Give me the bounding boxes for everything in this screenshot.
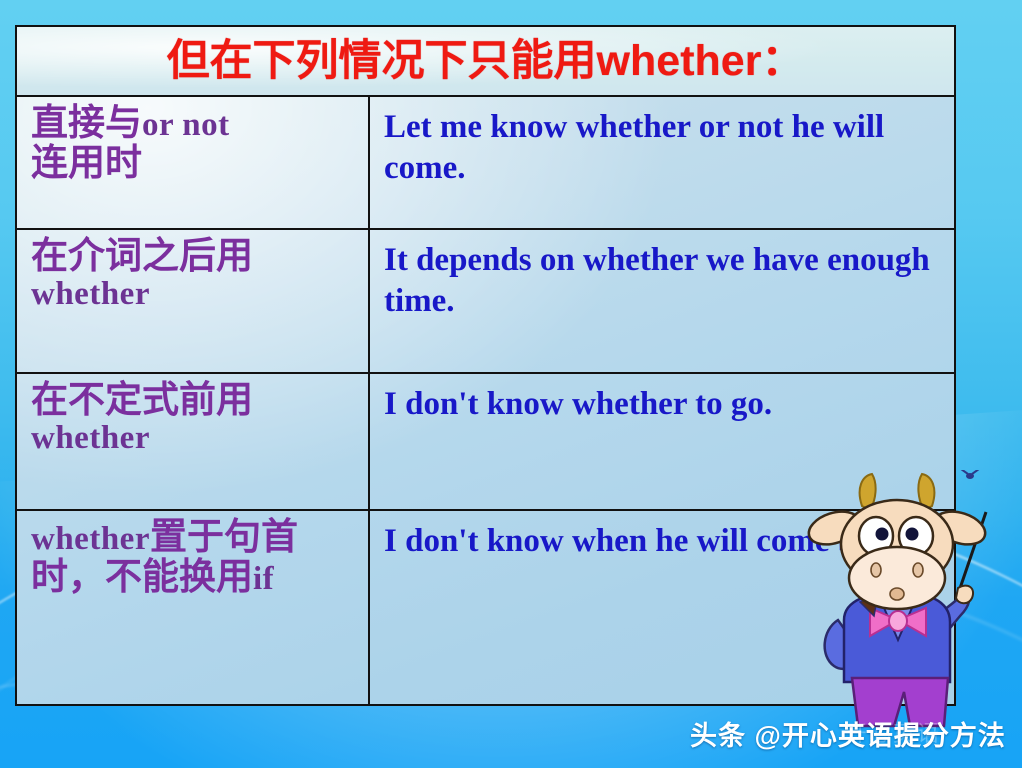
rule-text: 直接与or not连用时: [31, 103, 360, 183]
rule-cell: whether置于句首时，不能换用if: [17, 511, 370, 704]
rule-text: whether置于句首时，不能换用if: [31, 517, 360, 598]
example-sentence: It depends on whether we have enough tim…: [384, 240, 944, 323]
rule-cn-tail: 连用时: [31, 142, 142, 183]
rule-text: 在不定式前用: [31, 380, 360, 420]
example-sentence: Let me know whether or not he will come.: [384, 107, 944, 190]
rule-cell: 直接与or not连用时: [17, 97, 370, 228]
example-cell: It depends on whether we have enough tim…: [370, 230, 954, 372]
example-sentence: I don't know whether to go.: [384, 384, 944, 425]
rule-cn-lead: 直接与: [31, 102, 142, 143]
watermark: 头条 @开心英语提分方法: [690, 714, 1006, 753]
cow-mascot-icon: [800, 470, 1000, 728]
rule-en-inline: or not: [142, 107, 230, 143]
rule-text: 在介词之后用: [31, 236, 360, 276]
rule-keyword: whether: [31, 276, 360, 313]
rule-cell: 在介词之后用 whether: [17, 230, 370, 372]
rule-keyword: whether: [31, 420, 360, 457]
rule-cell: 在不定式前用 whether: [17, 374, 370, 509]
rule-en-trail: if: [253, 561, 274, 597]
page-title: 但在下列情况下只能用whether：: [167, 40, 805, 83]
table-title-row: 但在下列情况下只能用whether：: [17, 27, 954, 95]
table-row: 在介词之后用 whether It depends on whether we …: [17, 228, 954, 372]
rule-en-lead: whether: [31, 521, 150, 557]
slide-canvas: 但在下列情况下只能用whether： 直接与or not连用时 Let me k…: [0, 0, 1022, 768]
table-row: 直接与or not连用时 Let me know whether or not …: [17, 95, 954, 228]
example-cell: Let me know whether or not he will come.: [370, 97, 954, 228]
